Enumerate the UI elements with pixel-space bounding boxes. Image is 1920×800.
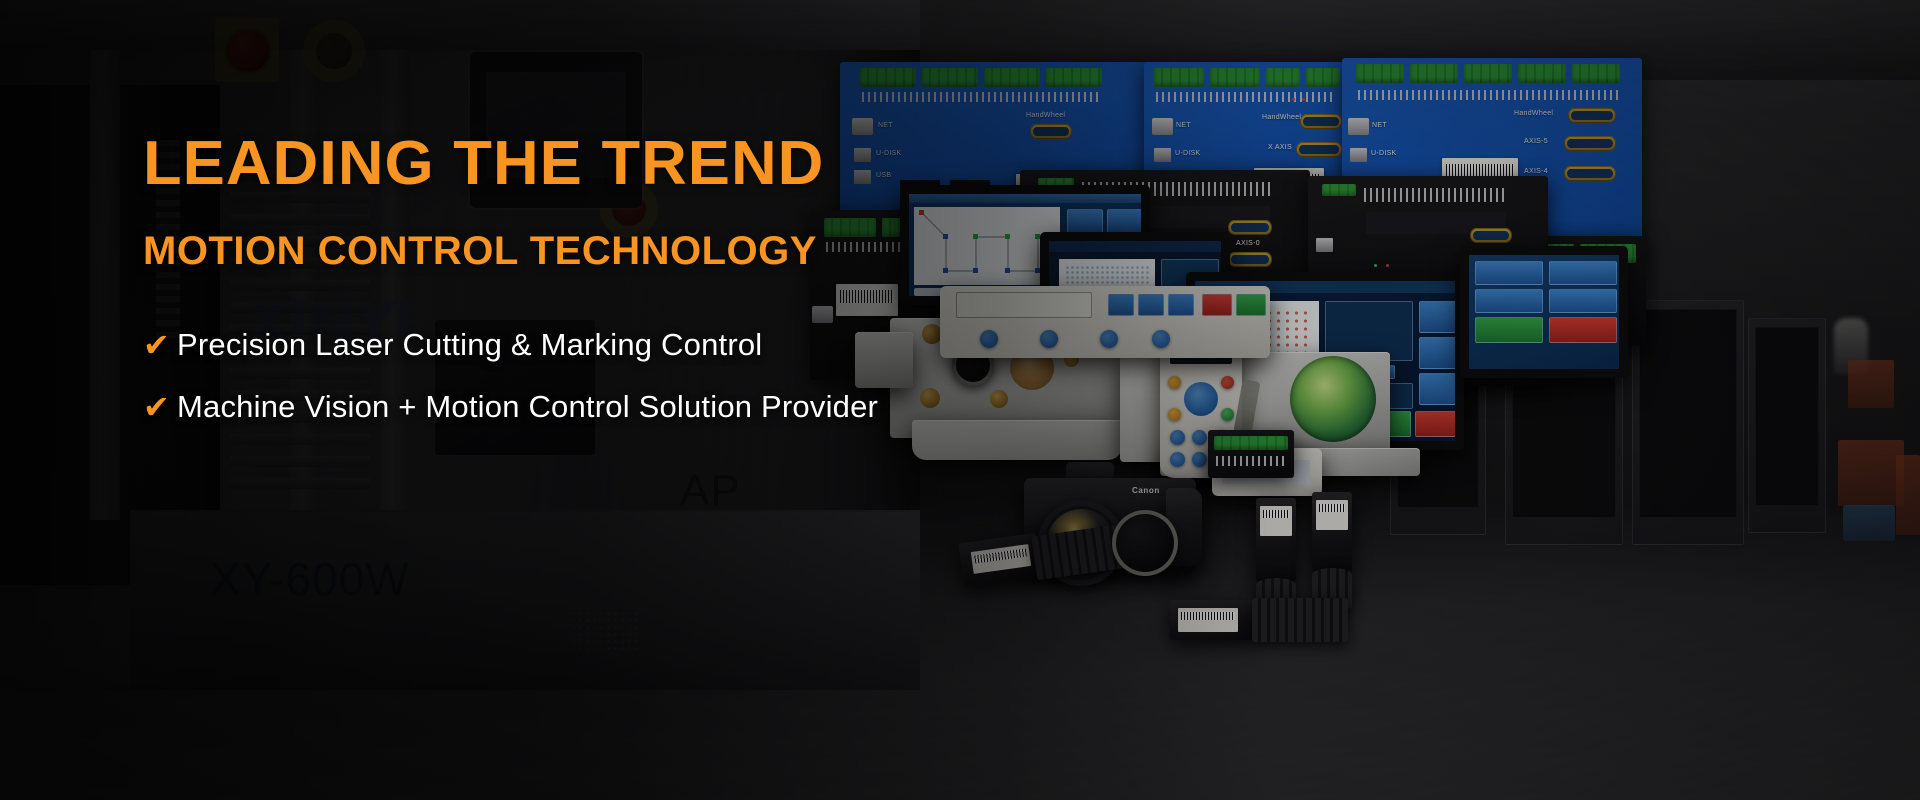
pin-header: [1156, 92, 1336, 102]
hmi-grid-button[interactable]: [1475, 289, 1543, 313]
terminal-block: [1046, 68, 1102, 87]
port-label-x-axis: X AXIS: [1268, 144, 1292, 151]
machine-model-label: XY-600W: [210, 552, 410, 606]
port-label-handwheel: HandWheel: [1514, 110, 1553, 117]
axis0-connector[interactable]: [1228, 220, 1272, 235]
console-stop-button[interactable]: [1202, 294, 1232, 316]
machine-vent-grille: [570, 610, 640, 652]
hmi-function-button[interactable]: [1107, 209, 1141, 233]
udisk-port[interactable]: [1154, 148, 1171, 162]
axis5-connector[interactable]: [1564, 136, 1616, 151]
control-button-hmi[interactable]: [1460, 246, 1628, 378]
hero-feature-list: ✔ Precision Laser Cutting & Marking Cont…: [143, 327, 1043, 425]
terminal-block: [1464, 64, 1512, 83]
pendant-dpad[interactable]: [1184, 382, 1218, 416]
pendant-key-f1[interactable]: [1170, 430, 1185, 445]
terminal-block: [1214, 436, 1288, 450]
port-label-udisk: U-DISK: [1175, 150, 1201, 157]
dslr-brand-label: Canon: [1132, 486, 1160, 495]
pendant-button[interactable]: [1221, 376, 1234, 389]
hmi-run-button[interactable]: [1475, 317, 1543, 343]
camera-barcode-label: [1260, 506, 1292, 536]
status-led: [1374, 264, 1377, 267]
check-icon: ✔: [143, 391, 177, 423]
hmi-stop-button[interactable]: [1549, 317, 1617, 343]
status-led: [1386, 264, 1389, 267]
camera-barcode-label: [1316, 500, 1348, 530]
status-led: [1302, 98, 1305, 101]
pendant-key-f2[interactable]: [1170, 452, 1185, 467]
pendant-button[interactable]: [1168, 376, 1181, 389]
barcode: [974, 548, 1027, 563]
product-cluster: NET U-DISK USB HandWheel NET U-DISK Hand…: [960, 0, 1920, 800]
terminal-block: [1210, 68, 1260, 87]
ethernet-port[interactable]: [1348, 118, 1369, 135]
terminal-block: [1572, 64, 1620, 83]
port-label-handwheel: HandWheel: [1262, 114, 1301, 121]
machine-secondary-label: AP: [680, 466, 741, 516]
port-label-handwheel: HandWheel: [1026, 112, 1065, 119]
feature-item: ✔ Machine Vision + Motion Control Soluti…: [143, 389, 1043, 425]
terminal-block: [860, 68, 916, 87]
axis4-connector[interactable]: [1564, 166, 1616, 181]
ethernet-port[interactable]: [1152, 118, 1173, 135]
hmi-grid-button[interactable]: [1475, 261, 1543, 285]
feature-item: ✔ Precision Laser Cutting & Marking Cont…: [143, 327, 1043, 363]
check-icon: ✔: [143, 329, 177, 361]
machine-slat: [230, 478, 370, 489]
feature-label: Machine Vision + Motion Control Solution…: [177, 389, 878, 425]
barcode: [1181, 612, 1235, 620]
hmi-side-button[interactable]: [1419, 301, 1455, 333]
console-button[interactable]: [1138, 294, 1164, 316]
hmi-stop-button[interactable]: [1415, 411, 1455, 437]
hero-subheadline: MOTION CONTROL TECHNOLOGY: [143, 231, 1043, 271]
port-label-net: NET: [1372, 122, 1387, 129]
pendant-key-left[interactable]: [1192, 452, 1207, 467]
port-label-axis4: AXIS-4: [1524, 168, 1548, 175]
hmi-grid-button[interactable]: [1549, 261, 1617, 285]
console-button[interactable]: [1168, 294, 1194, 316]
axis0-connector[interactable]: [1470, 228, 1512, 243]
udisk-port[interactable]: [1350, 148, 1367, 162]
hero-copy-block: LEADING THE TREND MOTION CONTROL TECHNOL…: [143, 133, 1043, 451]
hmi-function-button[interactable]: [1067, 209, 1103, 233]
camera-lens-hood: [1112, 510, 1178, 576]
pendant-button[interactable]: [1221, 408, 1234, 421]
emergency-stop-button[interactable]: [227, 30, 269, 72]
terminal-block: [1266, 68, 1300, 87]
axisu-connector[interactable]: [1228, 252, 1272, 267]
machine-top-panel: [0, 0, 920, 50]
terminal-block: [1306, 68, 1340, 87]
console-button[interactable]: [1108, 294, 1134, 316]
terminal-block: [1410, 64, 1458, 83]
hmi-side-button[interactable]: [1419, 337, 1455, 369]
console-start-button[interactable]: [1236, 294, 1266, 316]
pin-header: [1358, 90, 1620, 100]
pendant-button[interactable]: [1168, 408, 1181, 421]
selector-switch[interactable]: [316, 33, 352, 69]
handwheel-connector[interactable]: [1568, 108, 1616, 123]
camera-lens: [1252, 598, 1348, 642]
hmi-grid-button[interactable]: [1549, 289, 1617, 313]
console-round-button[interactable]: [1100, 330, 1118, 348]
pin-header: [1364, 188, 1506, 202]
terminal-block: [922, 68, 978, 87]
port-label-axis5: AXIS-5: [1524, 138, 1548, 145]
port-label-udisk: U-DISK: [1371, 150, 1397, 157]
terminal-block: [1154, 68, 1204, 87]
barcode: [1263, 510, 1289, 518]
barcode: [1319, 504, 1345, 512]
camera-barcode-label: [1178, 608, 1238, 632]
hmi-status-bar: [1049, 241, 1221, 252]
hmi-screen[interactable]: [1469, 255, 1619, 369]
pin-header: [1216, 456, 1286, 466]
terminal-block: [1518, 64, 1566, 83]
machine-slat: [230, 456, 370, 467]
terminal-block: [1322, 184, 1356, 196]
io-terminal-module[interactable]: [1208, 430, 1294, 478]
pin-header: [862, 92, 1102, 102]
display-port[interactable]: [1316, 238, 1333, 252]
hmi-side-button[interactable]: [1419, 373, 1455, 405]
hero-headline: LEADING THE TREND: [143, 133, 1061, 195]
status-led: [1292, 98, 1295, 101]
console-round-button[interactable]: [1152, 330, 1170, 348]
port-label-axis0: AXIS-0: [1236, 240, 1260, 247]
port-label-net: NET: [878, 122, 893, 129]
terminal-block: [984, 68, 1040, 87]
terminal-block: [1356, 64, 1404, 83]
galvo-lens-green: [1290, 356, 1376, 442]
port-label-net: NET: [1176, 122, 1191, 129]
machine-column: [90, 50, 120, 520]
feature-label: Precision Laser Cutting & Marking Contro…: [177, 327, 762, 363]
pendant-key-left[interactable]: [1192, 430, 1207, 445]
hero-banner: XINYI XY-600W AP NET U-DISK USB HandWhee…: [0, 0, 1920, 800]
x-axis-connector[interactable]: [1296, 142, 1342, 157]
handwheel-connector[interactable]: [1300, 114, 1342, 129]
